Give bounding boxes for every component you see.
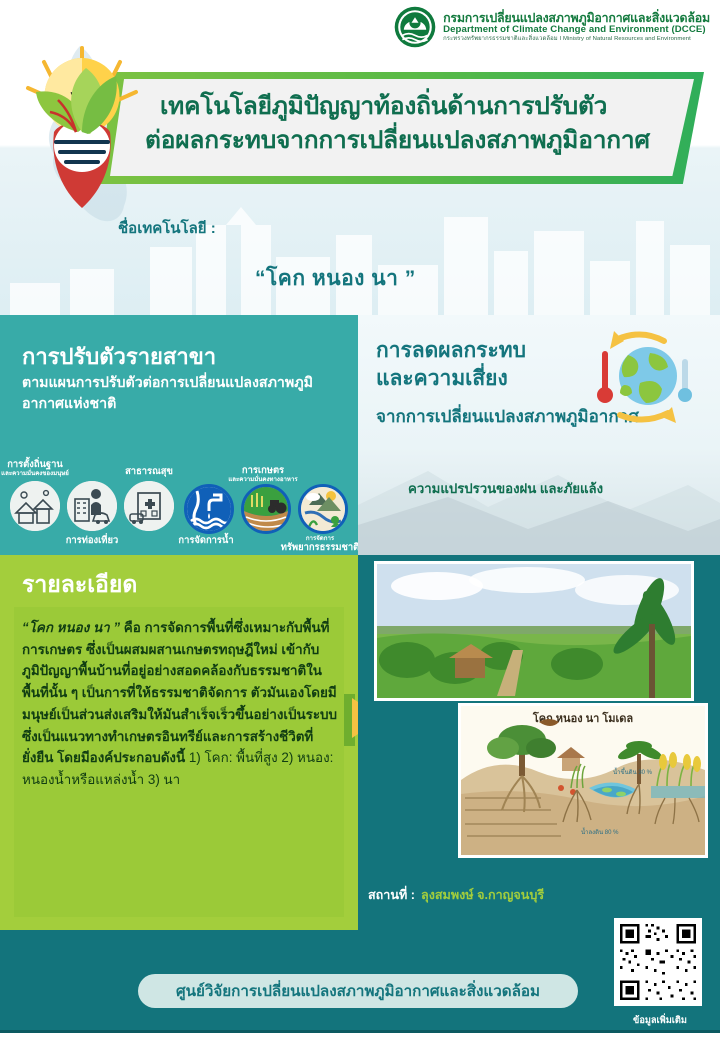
details-quote: “โคก หนอง นา ” bbox=[22, 620, 120, 635]
farm-tractor-icon bbox=[241, 484, 291, 534]
details-panel: รายละเอียด “โคก หนอง นา ” คือ การจัดการพ… bbox=[0, 555, 358, 930]
page-bottom-margin bbox=[0, 1033, 720, 1040]
adaptation-panel: การปรับตัวรายสาขา ตามแผนการปรับตัวต่อการ… bbox=[0, 315, 358, 555]
sector-label-health: สาธารณสุข bbox=[93, 466, 205, 477]
technology-name-label: ชื่อเทคโนโลยี : bbox=[118, 216, 216, 240]
mitigation-heading-line2: และความเสี่ยง bbox=[376, 367, 508, 390]
dcce-org-en: Department of Climate Change and Environ… bbox=[443, 25, 710, 35]
sector-label-tourism: การท่องเที่ยว bbox=[36, 535, 148, 546]
poster-title-line2: ต่อผลกระทบจากการเปลี่ยนแปลงสภาพภูมิอากาศ bbox=[145, 120, 690, 159]
lightbulb-leaf-pin-emblem bbox=[16, 40, 148, 220]
sector-icon-row: การตั้งถิ่นฐาน และความมั่นคงของมนุษย์ bbox=[4, 457, 358, 555]
farm-landscape-photo bbox=[374, 561, 694, 701]
adaptation-subheading: ตามแผนการปรับตัวต่อการเปลี่ยนแปลงสภาพภูม… bbox=[22, 373, 352, 416]
sector-item-agriculture[interactable]: การเกษตร และความมั่นคงทางอาหาร bbox=[238, 481, 288, 537]
title-ribbon: เทคโนโลยีภูมิปัญญาท้องถิ่นด้านการปรับตัว… bbox=[100, 72, 704, 184]
research-center-name: ศูนย์วิจัยการเปลี่ยนแปลงสภาพภูมิอากาศและ… bbox=[176, 979, 540, 1003]
research-center-pill: ศูนย์วิจัยการเปลี่ยนแปลงสภาพภูมิอากาศและ… bbox=[138, 974, 578, 1008]
place-label: สถานที่ : bbox=[368, 888, 415, 902]
mitigation-heading: การลดผลกระทบ และความเสี่ยง bbox=[376, 337, 526, 394]
sector-label-settlement: การตั้งถิ่นฐาน และความมั่นคงของมนุษย์ bbox=[0, 459, 91, 477]
qr-block[interactable]: ข้อมูลเพิ่มเติม bbox=[614, 918, 706, 1028]
tourism-icon bbox=[67, 481, 117, 531]
hospital-icon bbox=[124, 481, 174, 531]
mountain-icon bbox=[298, 484, 348, 534]
details-text-box: “โคก หนอง นา ” คือ การจัดการพื้นที่ซึ่งเ… bbox=[14, 607, 344, 917]
dcce-seal-icon bbox=[394, 6, 436, 48]
technology-name-value: “โคก หนอง นา ” bbox=[255, 262, 416, 295]
poster-footer: ศูนย์วิจัยการเปลี่ยนแปลงสภาพภูมิอากาศและ… bbox=[0, 930, 720, 1040]
mountain-backdrop bbox=[358, 445, 720, 555]
media-panel: โคก หนอง นา โมเดล bbox=[358, 555, 720, 930]
dcce-org-ministry: กระทรวงทรัพยากรธรรมชาติและสิ่งแวดล้อม I … bbox=[443, 36, 710, 42]
globe-thermometer-icon bbox=[584, 329, 702, 425]
qr-code-icon[interactable] bbox=[614, 918, 702, 1006]
place-row: สถานที่ :ลุงสมพงษ์ จ.กาญจนบุรี bbox=[368, 885, 544, 905]
qr-caption: ข้อมูลเพิ่มเติม bbox=[614, 1013, 706, 1028]
dcce-org-th: กรมการเปลี่ยนแปลงสภาพภูมิอากาศและสิ่งแวด… bbox=[443, 12, 710, 25]
khok-nong-na-model-diagram: โคก หนอง นา โมเดล bbox=[458, 703, 708, 858]
adaptation-heading: การปรับตัวรายสาขา bbox=[22, 339, 216, 374]
mitigation-heading-line1: การลดผลกระทบ bbox=[376, 339, 526, 362]
sector-item-tourism[interactable]: การท่องเที่ยว bbox=[67, 481, 117, 531]
sector-item-natural-resources[interactable]: การจัดการ ทรัพยากรธรรมชาติ bbox=[295, 481, 345, 537]
sector-item-water[interactable]: การจัดการน้ำ bbox=[181, 481, 231, 537]
water-tap-icon bbox=[184, 484, 234, 534]
sector-item-health[interactable]: สาธารณสุข bbox=[124, 481, 174, 531]
village-icon bbox=[10, 481, 60, 531]
sector-item-settlement[interactable]: การตั้งถิ่นฐาน และความมั่นคงของมนุษย์ bbox=[10, 481, 60, 531]
place-value: ลุงสมพงษ์ จ.กาญจนบุรี bbox=[421, 888, 544, 902]
dcce-logo: กรมการเปลี่ยนแปลงสภาพภูมิอากาศและสิ่งแวด… bbox=[394, 6, 710, 48]
poster: กรมการเปลี่ยนแปลงสภาพภูมิอากาศและสิ่งแวด… bbox=[0, 0, 720, 1040]
details-heading: รายละเอียด bbox=[22, 567, 137, 603]
poster-header: กรมการเปลี่ยนแปลงสภาพภูมิอากาศและสิ่งแวด… bbox=[0, 0, 720, 315]
details-paragraph: “โคก หนอง นา ” คือ การจัดการพื้นที่ซึ่งเ… bbox=[22, 617, 338, 791]
details-body: คือ การจัดการพื้นที่ซึ่งเหมาะกับพื้นที่ก… bbox=[22, 620, 337, 765]
sector-band: การปรับตัวรายสาขา ตามแผนการปรับตัวต่อการ… bbox=[0, 315, 720, 555]
mitigation-panel: การลดผลกระทบ และความเสี่ยง จากการเปลี่ยน… bbox=[358, 315, 720, 555]
mitigation-note: ความแปรปรวนของฝน และภัยแล้ง bbox=[408, 478, 603, 499]
